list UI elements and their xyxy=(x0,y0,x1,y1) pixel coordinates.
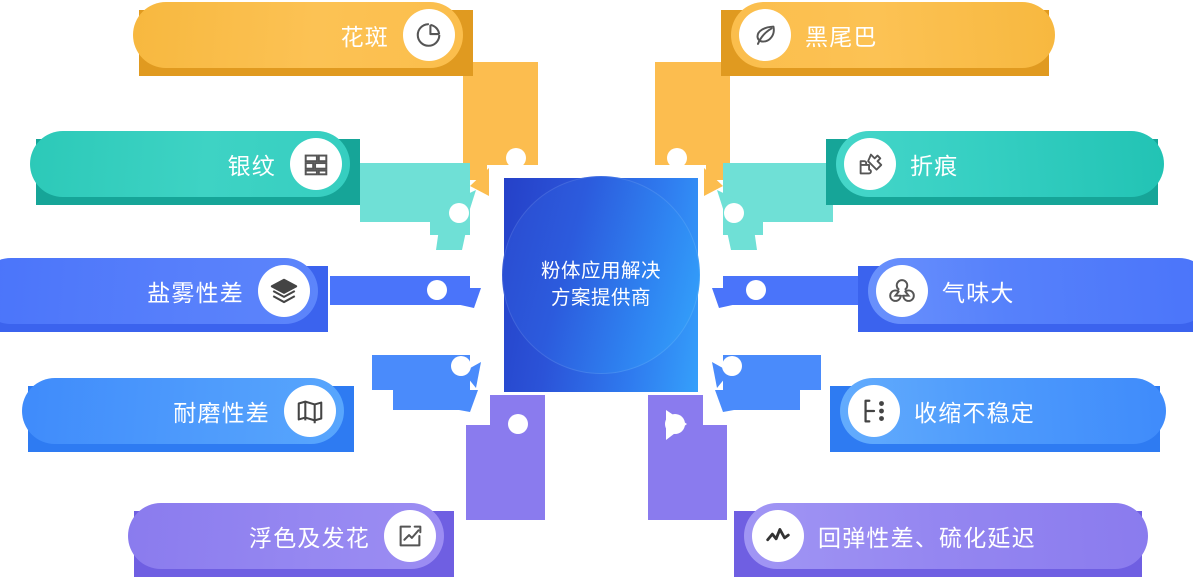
node-label-zhe-hen: 折痕 xyxy=(910,147,958,181)
connector-hui-tan-xing-cha xyxy=(648,395,727,520)
node-label-nai-mo-xing-cha: 耐磨性差 xyxy=(173,394,270,428)
center-title: 粉体应用解决 方案提供商 xyxy=(504,178,698,392)
node-nai-mo-xing-cha[interactable]: 耐磨性差 xyxy=(22,378,344,444)
node-yin-wen[interactable]: 银纹 xyxy=(30,131,350,197)
brick-wall-icon xyxy=(290,138,342,190)
node-label-qi-wei-da: 气味大 xyxy=(942,274,1015,308)
sitemap-icon xyxy=(848,385,900,437)
node-qi-wei-da[interactable]: 气味大 xyxy=(868,258,1193,324)
connector-fu-se-ji-fa-hua xyxy=(466,395,545,520)
node-body: 气味大 xyxy=(868,258,1193,324)
node-body: 浮色及发花 xyxy=(128,503,444,569)
node-body: 收缩不稳定 xyxy=(840,378,1166,444)
node-body: 回弹性差、硫化延迟 xyxy=(744,503,1148,569)
center-node: 粉体应用解决 方案提供商 xyxy=(504,178,698,392)
connector-yan-wu-xing-cha xyxy=(330,276,481,308)
connector-hei-wei-ba xyxy=(655,62,730,196)
node-body: 耐磨性差 xyxy=(22,378,344,444)
connector-shou-suo-bu-wen-ding xyxy=(712,355,821,412)
connector-zhe-hen xyxy=(717,163,833,250)
line-chart-icon xyxy=(752,510,804,562)
recycle-icon xyxy=(876,265,928,317)
node-body: 黑尾巴 xyxy=(731,2,1055,68)
growth-chart-icon xyxy=(384,510,436,562)
node-label-yan-wu-xing-cha: 盐雾性差 xyxy=(147,274,244,308)
connector-yin-wen xyxy=(360,163,476,250)
node-label-hua-ban: 花斑 xyxy=(341,18,389,52)
node-label-yin-wen: 银纹 xyxy=(228,147,276,181)
open-book-icon xyxy=(284,385,336,437)
node-hui-tan-xing-cha[interactable]: 回弹性差、硫化延迟 xyxy=(744,503,1148,569)
layers-icon xyxy=(258,265,310,317)
connector-nai-mo-xing-cha xyxy=(372,355,481,412)
node-yan-wu-xing-cha[interactable]: 盐雾性差 xyxy=(0,258,318,324)
node-zhe-hen[interactable]: 折痕 xyxy=(836,131,1164,197)
leaf-icon xyxy=(739,9,791,61)
node-hei-wei-ba[interactable]: 黑尾巴 xyxy=(731,2,1055,68)
node-body: 花斑 xyxy=(133,2,463,68)
node-label-hei-wei-ba: 黑尾巴 xyxy=(805,18,878,52)
pie-chart-icon xyxy=(403,9,455,61)
node-hua-ban[interactable]: 花斑 xyxy=(133,2,463,68)
node-fu-se-ji-fa-hua[interactable]: 浮色及发花 xyxy=(128,503,444,569)
node-label-hui-tan-xing-cha: 回弹性差、硫化延迟 xyxy=(818,519,1036,553)
node-body: 折痕 xyxy=(836,131,1164,197)
node-body: 银纹 xyxy=(30,131,350,197)
node-shou-suo-bu-wen-ding[interactable]: 收缩不稳定 xyxy=(840,378,1166,444)
puzzle-piece-icon xyxy=(844,138,896,190)
connector-qi-wei-da xyxy=(712,276,863,308)
node-label-shou-suo-bu-wen-ding: 收缩不稳定 xyxy=(914,394,1035,428)
node-label-fu-se-ji-fa-hua: 浮色及发花 xyxy=(249,519,370,553)
node-body: 盐雾性差 xyxy=(0,258,318,324)
connector-hua-ban xyxy=(463,62,538,196)
infographic-diagram: 粉体应用解决 方案提供商 花斑 黑尾巴 xyxy=(0,0,1193,577)
